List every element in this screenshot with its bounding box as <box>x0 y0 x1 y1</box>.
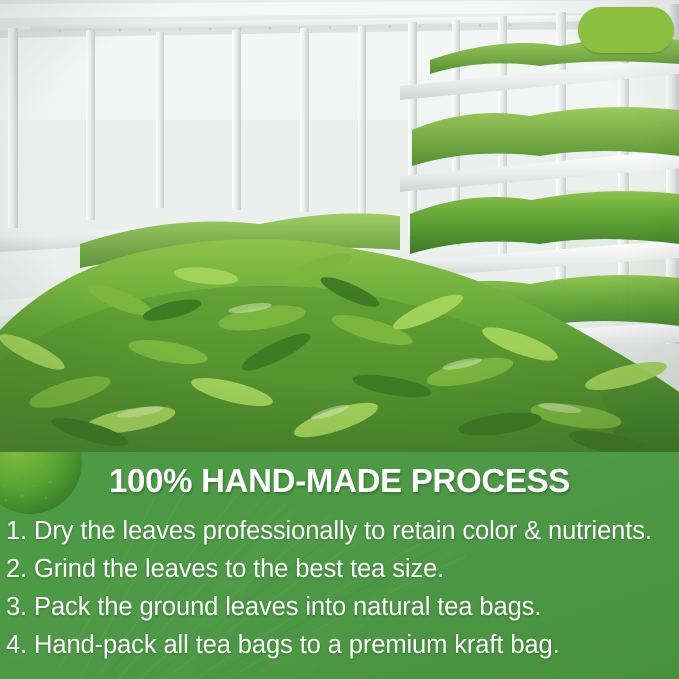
panel-content: 100% HAND-MADE PROCESS 1. Dry the leaves… <box>0 452 679 679</box>
leaf-flower-icon <box>581 7 674 53</box>
list-item: 3. Pack the ground leaves into natural t… <box>6 588 675 626</box>
product-infographic: FRESH Drink US <box>0 0 679 679</box>
tea-leaves-drying-greenhouse-photo: FRESH Drink US <box>0 0 679 452</box>
fresh-drink-us-logo[interactable]: FRESH Drink US <box>578 7 674 53</box>
list-item: 4. Hand-pack all tea bags to a premium k… <box>6 626 675 664</box>
greenhouse-scene <box>0 0 679 452</box>
list-item: 1. Dry the leaves professionally to reta… <box>6 512 675 550</box>
page-title: 100% HAND-MADE PROCESS <box>0 462 679 500</box>
list-item: 2. Grind the leaves to the best tea size… <box>6 550 675 588</box>
process-steps-list: 1. Dry the leaves professionally to reta… <box>6 512 675 664</box>
process-info-panel: 100% HAND-MADE PROCESS 1. Dry the leaves… <box>0 452 679 679</box>
